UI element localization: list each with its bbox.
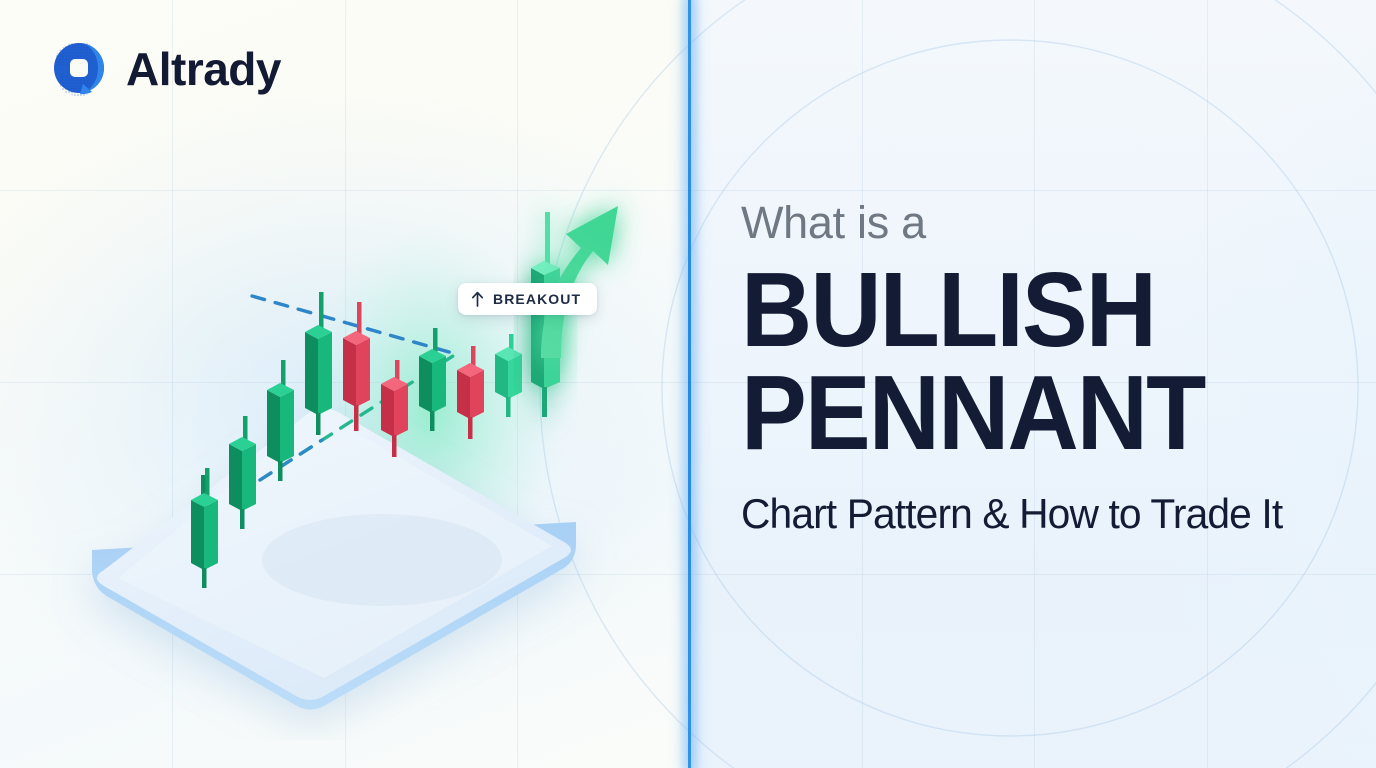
headline-line-2: PENNANT — [741, 362, 1299, 465]
vertical-divider — [688, 0, 691, 768]
bullish-pennant-illustration — [52, 120, 652, 740]
page-title: BULLISH PENNANT — [741, 259, 1299, 465]
kicker-text: What is a — [741, 200, 1341, 245]
breakout-badge[interactable]: BREAKOUT — [458, 283, 597, 315]
headline-block: What is a BULLISH PENNANT Chart Pattern … — [741, 200, 1341, 537]
poster-canvas: Altrady BREAKOUT What is a BULLISH PENNA… — [0, 0, 1376, 768]
brand-name: Altrady — [126, 46, 281, 92]
brand-logo[interactable]: Altrady — [50, 40, 281, 98]
headline-line-1: BULLISH — [741, 259, 1299, 362]
subtitle-text: Chart Pattern & How to Trade It — [741, 491, 1323, 537]
altrady-circle-logo-icon — [50, 40, 108, 98]
breakout-badge-label: BREAKOUT — [493, 291, 581, 307]
arrow-up-icon — [471, 291, 484, 307]
